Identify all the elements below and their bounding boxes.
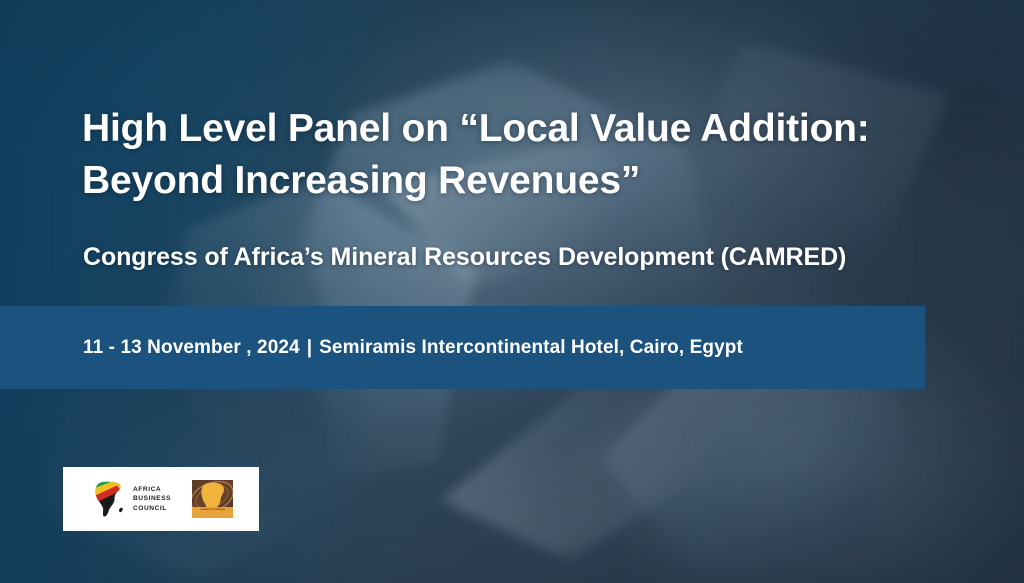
event-banner: High Level Panel on “Local Value Additio…	[0, 0, 1024, 583]
africa-business-council-logo: AFRICA BUSINESS COUNCIL	[93, 481, 171, 517]
abc-line-1: AFRICA	[133, 485, 171, 494]
cda-caption-line-1: Coalition for Dialogue	[200, 508, 225, 511]
date-venue-separator: |	[300, 337, 319, 359]
banner-content: High Level Panel on “Local Value Additio…	[0, 0, 1024, 583]
coalition-for-dialogue-on-africa-logo: Coalition for Dialogue	[192, 480, 233, 518]
abc-line-2: BUSINESS	[133, 494, 171, 503]
date-venue-text: 11 - 13 November , 2024|Semiramis Interc…	[83, 337, 743, 359]
africa-business-council-wordmark: AFRICA BUSINESS COUNCIL	[133, 485, 171, 513]
congress-subtitle: Congress of Africa’s Mineral Resources D…	[83, 243, 973, 272]
africa-map-icon	[93, 481, 127, 517]
panel-title: High Level Panel on “Local Value Additio…	[82, 103, 972, 207]
cda-caption: Coalition for Dialogue	[192, 507, 233, 518]
date-venue-bar: 11 - 13 November , 2024|Semiramis Interc…	[0, 306, 925, 389]
event-venue: Semiramis Intercontinental Hotel, Cairo,…	[319, 337, 743, 358]
abc-line-3: COUNCIL	[133, 504, 171, 513]
logo-strip: AFRICA BUSINESS COUNCIL Coalition for Di…	[63, 467, 259, 531]
event-dates: 11 - 13 November , 2024	[83, 337, 300, 358]
